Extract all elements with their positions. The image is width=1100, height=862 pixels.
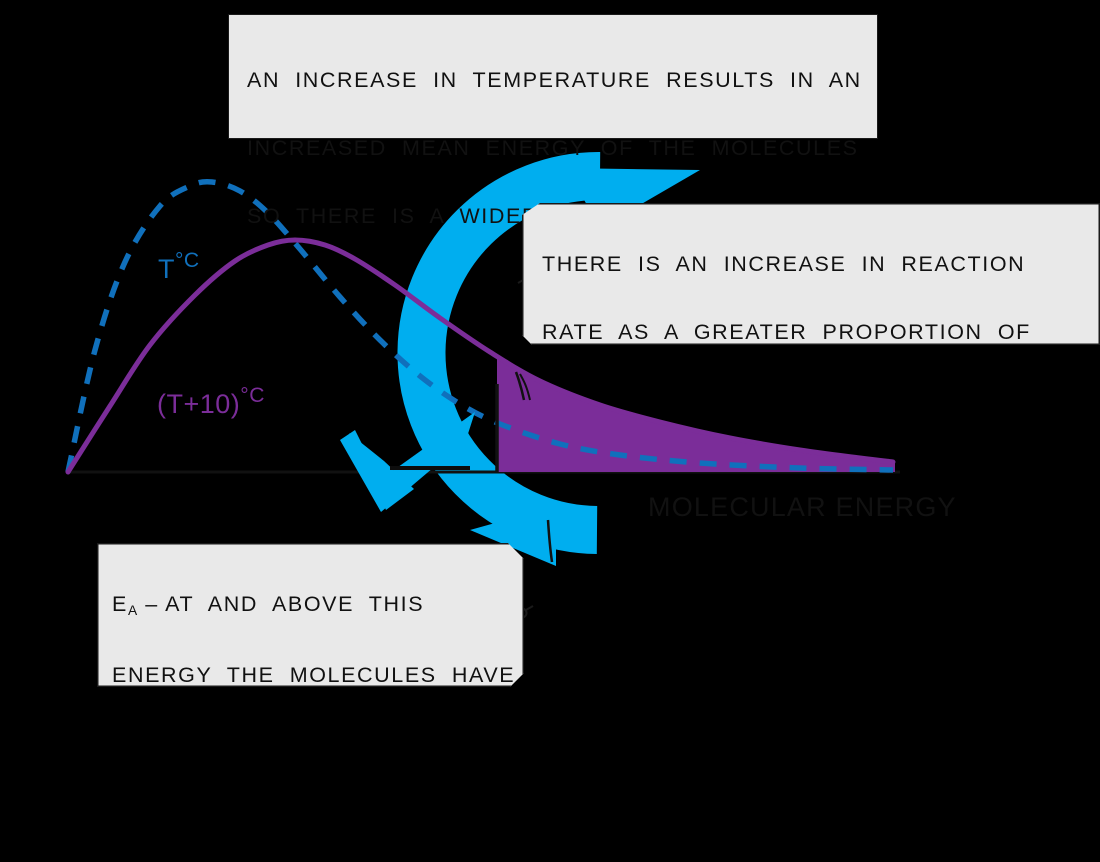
ea-symbol: E xyxy=(112,592,128,616)
curve-label-low-temperature-text: T xyxy=(158,254,175,284)
callout-activation-energy-line-3: ENOUGH ENERGY TO COLLIDE xyxy=(112,726,506,760)
ea-rest: – AT AND ABOVE THIS xyxy=(138,592,425,616)
callout-reaction-rate-line-2: RATE AS A GREATER PROPORTION OF xyxy=(542,315,1082,349)
ea-subscript: A xyxy=(128,603,138,618)
callout-activation-energy-line-1: EA – AT AND ABOVE THIS xyxy=(112,587,506,624)
callout-activation-energy-line-2: ENERGY THE MOLECULES HAVE xyxy=(112,658,506,692)
curve-label-high-temperature-text: (T+10) xyxy=(157,389,240,419)
callout-activation-energy-line-4: EFFECTIVELY xyxy=(112,794,506,828)
callout-temperature-line-1: AN INCREASE IN TEMPERATURE RESULTS IN AN xyxy=(247,63,859,97)
callout-reaction-rate: THERE IS AN INCREASE IN REACTION RATE AS… xyxy=(522,203,1100,345)
callout-activation-energy: EA – AT AND ABOVE THIS ENERGY THE MOLECU… xyxy=(97,543,524,687)
callout-temperature: AN INCREASE IN TEMPERATURE RESULTS IN AN… xyxy=(228,14,878,139)
callout-reaction-rate-line-1: THERE IS AN INCREASE IN REACTION xyxy=(542,247,1082,281)
curve-label-low-temperature: T°C xyxy=(158,250,200,285)
diagram-canvas: MOLECULAR ENERGY T°C (T+10)°C AN INCREAS… xyxy=(0,0,1100,724)
x-axis-caption: MOLECULAR ENERGY xyxy=(648,492,957,523)
curve-label-low-temperature-unit: °C xyxy=(175,249,200,272)
callout-temperature-line-2: INCREASED MEAN ENERGY OF THE MOLECULES xyxy=(247,131,859,165)
curve-label-high-temperature-unit: °C xyxy=(240,384,265,407)
curve-label-high-temperature: (T+10)°C xyxy=(157,385,265,420)
